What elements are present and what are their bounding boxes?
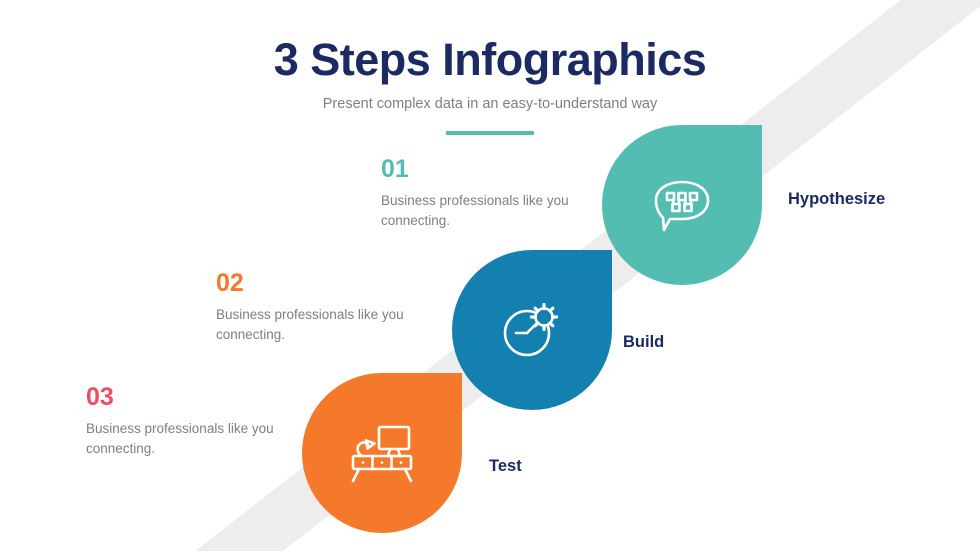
step-description-02: Business professionals like you connecti… [216,305,431,344]
step-block-02: 02 Business professionals like you conne… [216,271,431,344]
infographic-slide: 3 Steps Infographics Present complex dat… [0,0,980,551]
step-shape-build[interactable] [452,250,612,410]
stage-label-build: Build [623,333,664,352]
page-subtitle: Present complex data in an easy-to-under… [0,96,980,113]
step-block-01: 01 Business professionals like you conne… [381,157,596,230]
step-shape-hypothesize[interactable] [602,125,762,285]
stage-label-test: Test [489,457,522,476]
title-accent-bar [446,131,534,135]
step-description-01: Business professionals like you connecti… [381,191,596,230]
header: 3 Steps Infographics Present complex dat… [0,36,980,135]
desk-monitor-lamp-icon [345,422,419,484]
step-number-03: 03 [86,385,301,410]
clock-gear-icon [498,297,566,363]
speech-bubble-network-icon [648,174,716,236]
step-number-02: 02 [216,271,431,296]
page-title: 3 Steps Infographics [0,36,980,83]
step-block-03: 03 Business professionals like you conne… [86,385,301,458]
stage-label-hypothesize: Hypothesize [788,190,885,209]
step-number-01: 01 [381,157,596,182]
step-shape-test[interactable] [302,373,462,533]
step-description-03: Business professionals like you connecti… [86,419,301,458]
